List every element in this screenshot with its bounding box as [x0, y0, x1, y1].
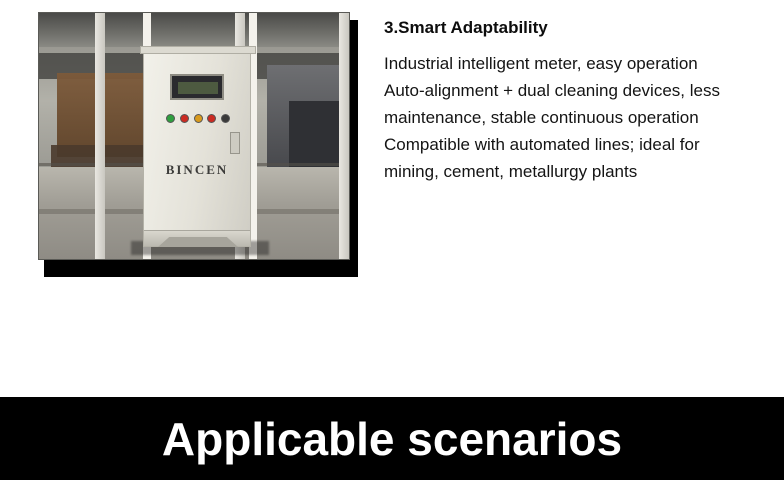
photo-ceiling — [39, 13, 349, 47]
cabinet-button-amber — [194, 114, 203, 123]
cabinet-button-row — [166, 112, 230, 124]
photo-pillar-4 — [339, 13, 349, 260]
cabinet-button-green — [166, 114, 175, 123]
feature-text-block: 3.Smart Adaptability Industrial intellig… — [384, 16, 756, 185]
cabinet-meter-screen — [178, 82, 218, 94]
cabinet-meter-display — [170, 74, 224, 100]
cabinet-button-red — [180, 114, 189, 123]
cabinet-brand-label: BINCEN — [144, 162, 250, 178]
slide-page: BINCEN 3.Smart Adaptability Industrial i… — [0, 0, 784, 480]
factory-cabinet-photo: BINCEN — [38, 12, 350, 260]
photo-pillar-1 — [95, 13, 105, 260]
banner-title: Applicable scenarios — [162, 413, 622, 465]
feature-body: Industrial intelligent meter, easy opera… — [384, 50, 756, 185]
cabinet-base — [144, 230, 250, 246]
cabinet-button-red-2 — [207, 114, 216, 123]
feature-paragraph-2: Auto-alignment + dual cleaning devices, … — [384, 77, 756, 131]
product-photo-block: BINCEN — [38, 12, 358, 277]
feature-paragraph-1: Industrial intelligent meter, easy opera… — [384, 50, 756, 77]
feature-heading: 3.Smart Adaptability — [384, 16, 756, 40]
feature-paragraph-3: Compatible with automated lines; ideal f… — [384, 131, 756, 185]
bottom-banner: Applicable scenarios — [0, 397, 784, 480]
cabinet-handle — [230, 132, 240, 154]
cabinet-button-dark — [221, 114, 230, 123]
cabinet-top-cap — [140, 46, 256, 54]
control-cabinet: BINCEN — [143, 51, 251, 247]
